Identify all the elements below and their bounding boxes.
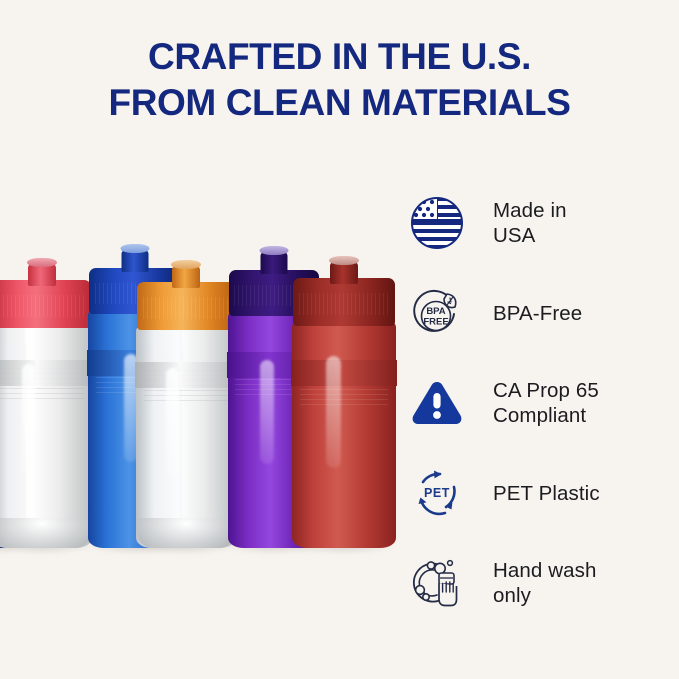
bottle-cap bbox=[293, 278, 395, 326]
bottle-highlight bbox=[22, 364, 35, 474]
product-bottle-lineup bbox=[0, 228, 410, 548]
bottle-body bbox=[292, 322, 396, 548]
feature-label: Made in USA bbox=[493, 198, 567, 248]
bpa-icon-text-line1: BPA bbox=[426, 306, 445, 317]
bottle-spout bbox=[261, 252, 288, 274]
spout-cap bbox=[27, 258, 57, 267]
bottle-cap bbox=[137, 282, 235, 330]
spout-cap bbox=[260, 246, 289, 255]
cap-ridges bbox=[0, 295, 85, 317]
spout-cap bbox=[121, 244, 150, 253]
bottle-spout bbox=[28, 264, 56, 286]
feature-item-bpa-free: BPA FREE BPA-Free bbox=[408, 268, 674, 358]
bottle-base bbox=[0, 518, 90, 548]
bottle-body bbox=[0, 324, 92, 548]
bottle-waist bbox=[135, 362, 237, 388]
bottle-highlight bbox=[260, 360, 274, 464]
spout-cap bbox=[171, 260, 201, 269]
pet-icon-text: PET bbox=[424, 486, 450, 500]
bottle-spout bbox=[330, 262, 358, 284]
bottle-cap bbox=[0, 280, 91, 328]
feature-label: CA Prop 65 Compliant bbox=[493, 378, 599, 428]
warning-triangle-icon bbox=[408, 374, 466, 432]
headline-line-2: FROM CLEAN MATERIALS bbox=[0, 80, 679, 126]
headline-line-1: CRAFTED IN THE U.S. bbox=[148, 36, 531, 77]
feature-list: Made in USA BPA FREE BPA-Free bbox=[408, 178, 674, 628]
usa-flag-badge-icon bbox=[408, 194, 466, 252]
red-bottle bbox=[292, 250, 396, 548]
cap-ridges bbox=[299, 293, 389, 315]
bottle-spout bbox=[172, 266, 200, 288]
hand-wash-icon bbox=[408, 554, 466, 612]
feature-item-ca-prop-65: CA Prop 65 Compliant bbox=[408, 358, 674, 448]
feature-item-pet-plastic: PET PET Plastic bbox=[408, 448, 674, 538]
feature-label: PET Plastic bbox=[493, 481, 600, 506]
feature-label: BPA-Free bbox=[493, 301, 582, 326]
cap-ridges bbox=[143, 297, 229, 319]
feature-item-hand-wash-only: Hand wash only bbox=[408, 538, 674, 628]
bottle-highlight bbox=[166, 368, 179, 476]
infographic-canvas: CRAFTED IN THE U.S. FROM CLEAN MATERIALS bbox=[0, 0, 679, 679]
clear-bottle-pink-cap bbox=[0, 252, 92, 548]
bottle-body bbox=[136, 326, 236, 548]
bottle-highlight bbox=[326, 356, 341, 468]
clear-bottle-orange-cap bbox=[136, 256, 236, 548]
bpa-free-icon: BPA FREE bbox=[408, 284, 466, 342]
bottle-base bbox=[138, 518, 234, 548]
feature-label: Hand wash only bbox=[493, 558, 596, 608]
bottle-waist bbox=[291, 360, 397, 386]
bottle-waist bbox=[0, 360, 93, 386]
page-title: CRAFTED IN THE U.S. FROM CLEAN MATERIALS bbox=[0, 34, 679, 126]
bpa-icon-text-line2: FREE bbox=[423, 317, 448, 328]
feature-item-made-in-usa: Made in USA bbox=[408, 178, 674, 268]
pet-recycle-icon: PET bbox=[408, 464, 466, 522]
spout-cap bbox=[329, 256, 359, 265]
